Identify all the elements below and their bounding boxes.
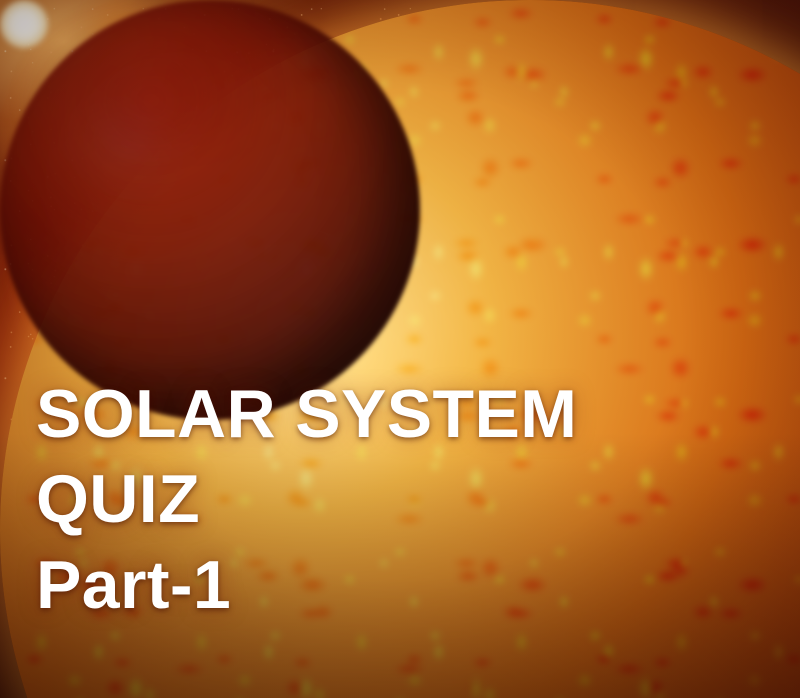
title-line-primary: SOLAR SYSTEM: [36, 382, 636, 447]
title-block: SOLAR SYSTEM QUIZ Part-1: [36, 382, 636, 626]
nebula-band: [0, 0, 646, 386]
title-line-secondary: QUIZ: [36, 467, 636, 532]
planet-shadow: [0, 0, 300, 200]
title-line-part: Part-1: [36, 553, 636, 618]
bright-star-core: [0, 0, 48, 48]
nebula-glow: [0, 0, 380, 230]
quiz-title-card: SOLAR SYSTEM QUIZ Part-1: [0, 0, 800, 698]
solar-prominence: [0, 0, 257, 240]
planet-silhouette: [0, 0, 420, 420]
bright-star-halo: [0, 0, 260, 260]
